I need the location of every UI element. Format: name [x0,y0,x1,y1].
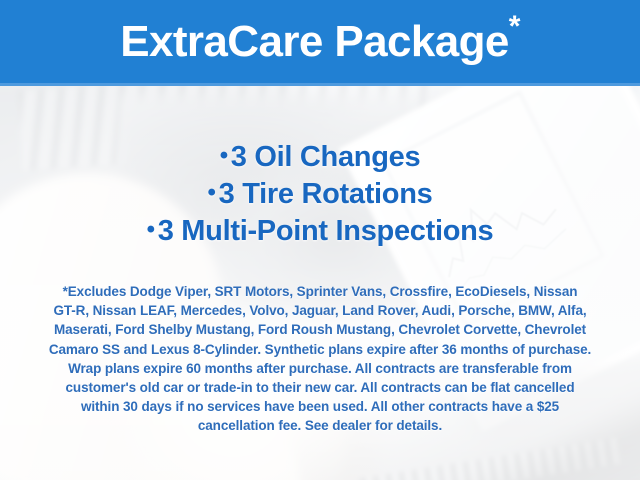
bullet-icon: • [147,216,155,243]
bullet-icon: • [220,142,228,169]
benefit-item-label: 3 Oil Changes [231,141,421,173]
benefit-item-label: 3 Multi-Point Inspections [158,215,494,247]
disclaimer-line: within 30 days if no services have been … [24,397,616,416]
disclaimer-line: GT-R, Nissan LEAF, Mercedes, Volvo, Jagu… [24,301,616,320]
benefits-list: •3 Oil Changes •3 Tire Rotations •3 Mult… [0,138,640,249]
benefit-item-label: 3 Tire Rotations [219,178,433,210]
benefit-item: •3 Oil Changes [0,138,640,175]
bullet-icon: • [208,179,216,206]
page-title-asterisk: * [509,12,520,42]
extracare-package-ad: ExtraCare Package* •3 Oil Changes •3 Tir… [0,0,640,480]
benefit-item: •3 Tire Rotations [0,175,640,212]
disclaimer-line: Wrap plans expire 60 months after purcha… [24,359,616,378]
disclaimer-line: Maserati, Ford Shelby Mustang, Ford Rous… [24,320,616,339]
disclaimer-line: cancellation fee. See dealer for details… [24,416,616,435]
disclaimer-line: *Excludes Dodge Viper, SRT Motors, Sprin… [24,282,616,301]
benefit-item: •3 Multi-Point Inspections [0,212,640,249]
header-bar: ExtraCare Package* [0,0,640,86]
content-area: •3 Oil Changes •3 Tire Rotations •3 Mult… [0,86,640,480]
disclaimer-line: Camaro SS and Lexus 8-Cylinder. Syntheti… [24,340,616,359]
page-title: ExtraCare Package* [0,0,640,83]
disclaimer-line: customer's old car or trade-in to their … [24,378,616,397]
page-title-text: ExtraCare Package [120,20,509,64]
disclaimer-text: *Excludes Dodge Viper, SRT Motors, Sprin… [24,282,616,436]
